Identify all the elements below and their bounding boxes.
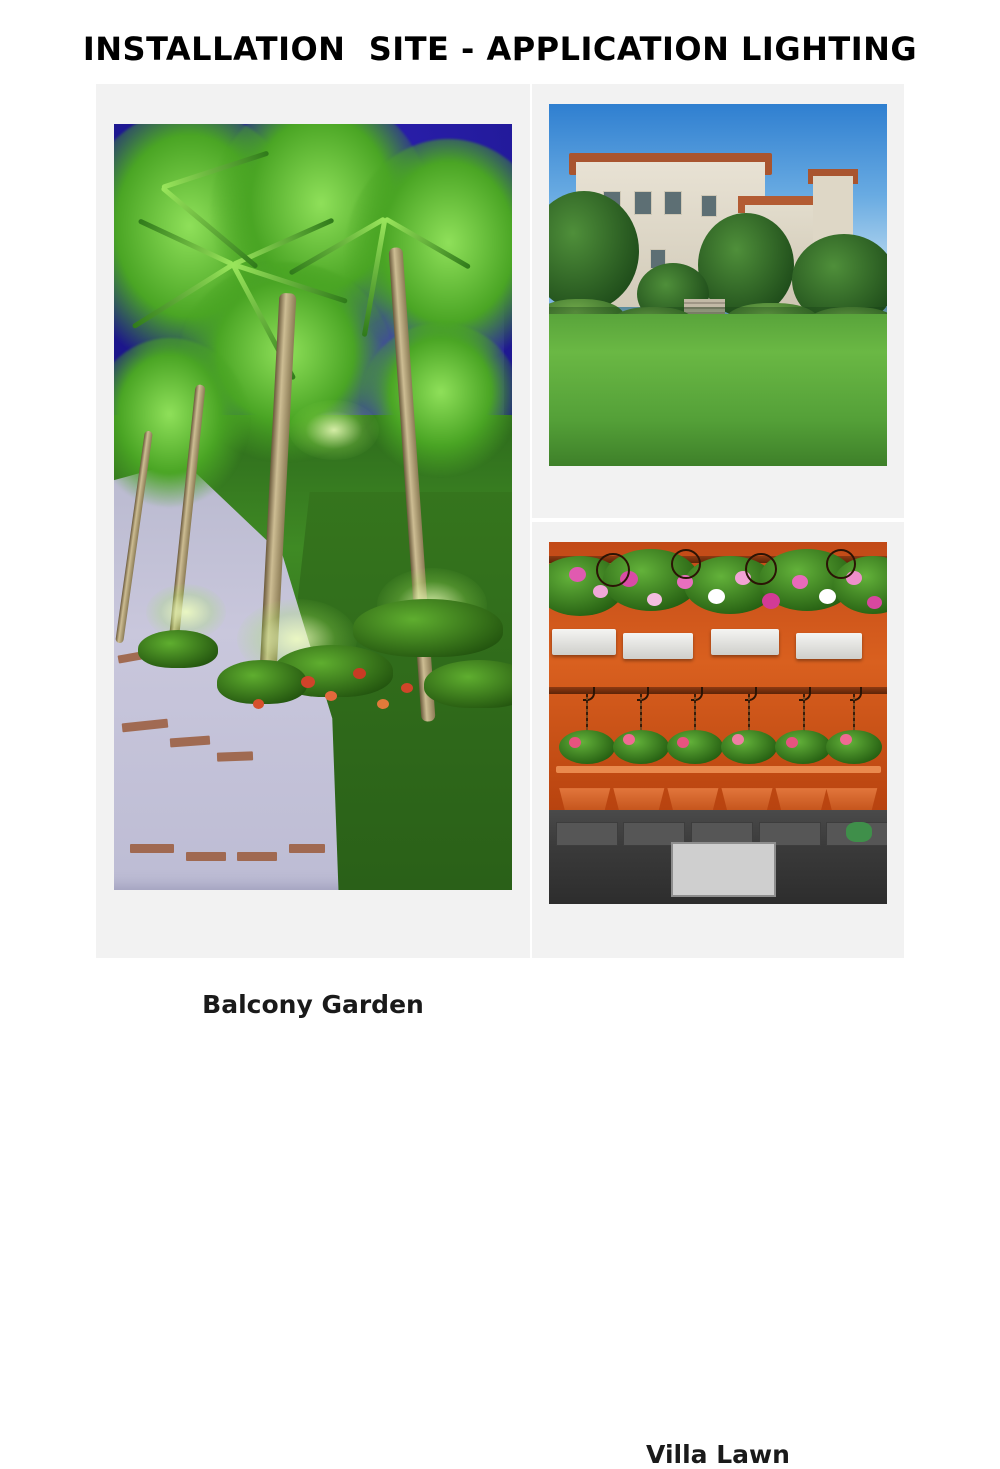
- window-planter: [796, 633, 862, 659]
- paver-brick: [186, 852, 226, 861]
- window-planter: [623, 633, 693, 659]
- window-planter: [552, 629, 616, 655]
- paver-brick: [217, 751, 253, 761]
- shrub: [353, 599, 503, 657]
- potted-plant-accent: [846, 822, 872, 842]
- villa-window: [664, 191, 682, 215]
- petunia-bloom: [867, 596, 882, 609]
- petunia-bloom: [792, 575, 808, 589]
- wall-rail: [549, 687, 887, 694]
- page-title: INSTALLATION SITE - APPLICATION LIGHTING: [0, 30, 1000, 68]
- palm-crown: [361, 323, 512, 476]
- paver-brick: [289, 844, 325, 853]
- stone-block: [556, 822, 618, 846]
- panel-park-path: Park Path: [532, 84, 904, 518]
- petunia-bloom: [647, 593, 662, 606]
- pot-rim: [556, 766, 614, 773]
- caption-villa-lawn: Villa Lawn: [532, 1440, 904, 1469]
- panel-villa-lawn: Villa Lawn: [532, 522, 904, 958]
- pot-rim: [718, 766, 776, 773]
- flower-cluster: [325, 691, 337, 701]
- photo-villa-lawn: [549, 542, 887, 904]
- flower-cluster: [353, 668, 366, 679]
- shrub: [138, 630, 218, 668]
- uplight-glow: [289, 400, 379, 460]
- flower-cluster: [253, 699, 264, 709]
- paver-brick: [237, 852, 277, 861]
- pot-rim: [664, 766, 722, 773]
- iron-scroll-ornament: [671, 549, 701, 579]
- basement-vent: [671, 842, 776, 897]
- shrub: [424, 660, 512, 708]
- caption-balcony-garden: Balcony Garden: [96, 990, 530, 1019]
- shrub: [217, 660, 307, 704]
- petunia-bloom: [762, 593, 780, 609]
- villa-window: [701, 195, 717, 217]
- iron-scroll-ornament: [745, 553, 777, 585]
- flower-cluster: [377, 699, 389, 709]
- iron-scroll-ornament: [596, 553, 630, 587]
- pot-rim: [823, 766, 881, 773]
- geranium-bloom: [840, 734, 852, 745]
- window-planter: [711, 629, 779, 655]
- villa-window: [634, 191, 652, 215]
- photo-park-path: [549, 104, 887, 466]
- flower-cluster: [301, 676, 315, 688]
- geranium-bloom: [732, 734, 744, 745]
- pot-rim: [610, 766, 668, 773]
- panel-balcony-garden: Balcony Garden: [96, 84, 530, 958]
- lawn: [549, 314, 887, 466]
- paver-brick: [130, 844, 174, 853]
- petunia-bloom: [708, 589, 725, 604]
- pot-rim: [772, 766, 830, 773]
- photo-balcony-garden: [114, 124, 512, 890]
- poster-page: INSTALLATION SITE - APPLICATION LIGHTING: [0, 0, 1000, 1000]
- flower-cluster: [401, 683, 413, 693]
